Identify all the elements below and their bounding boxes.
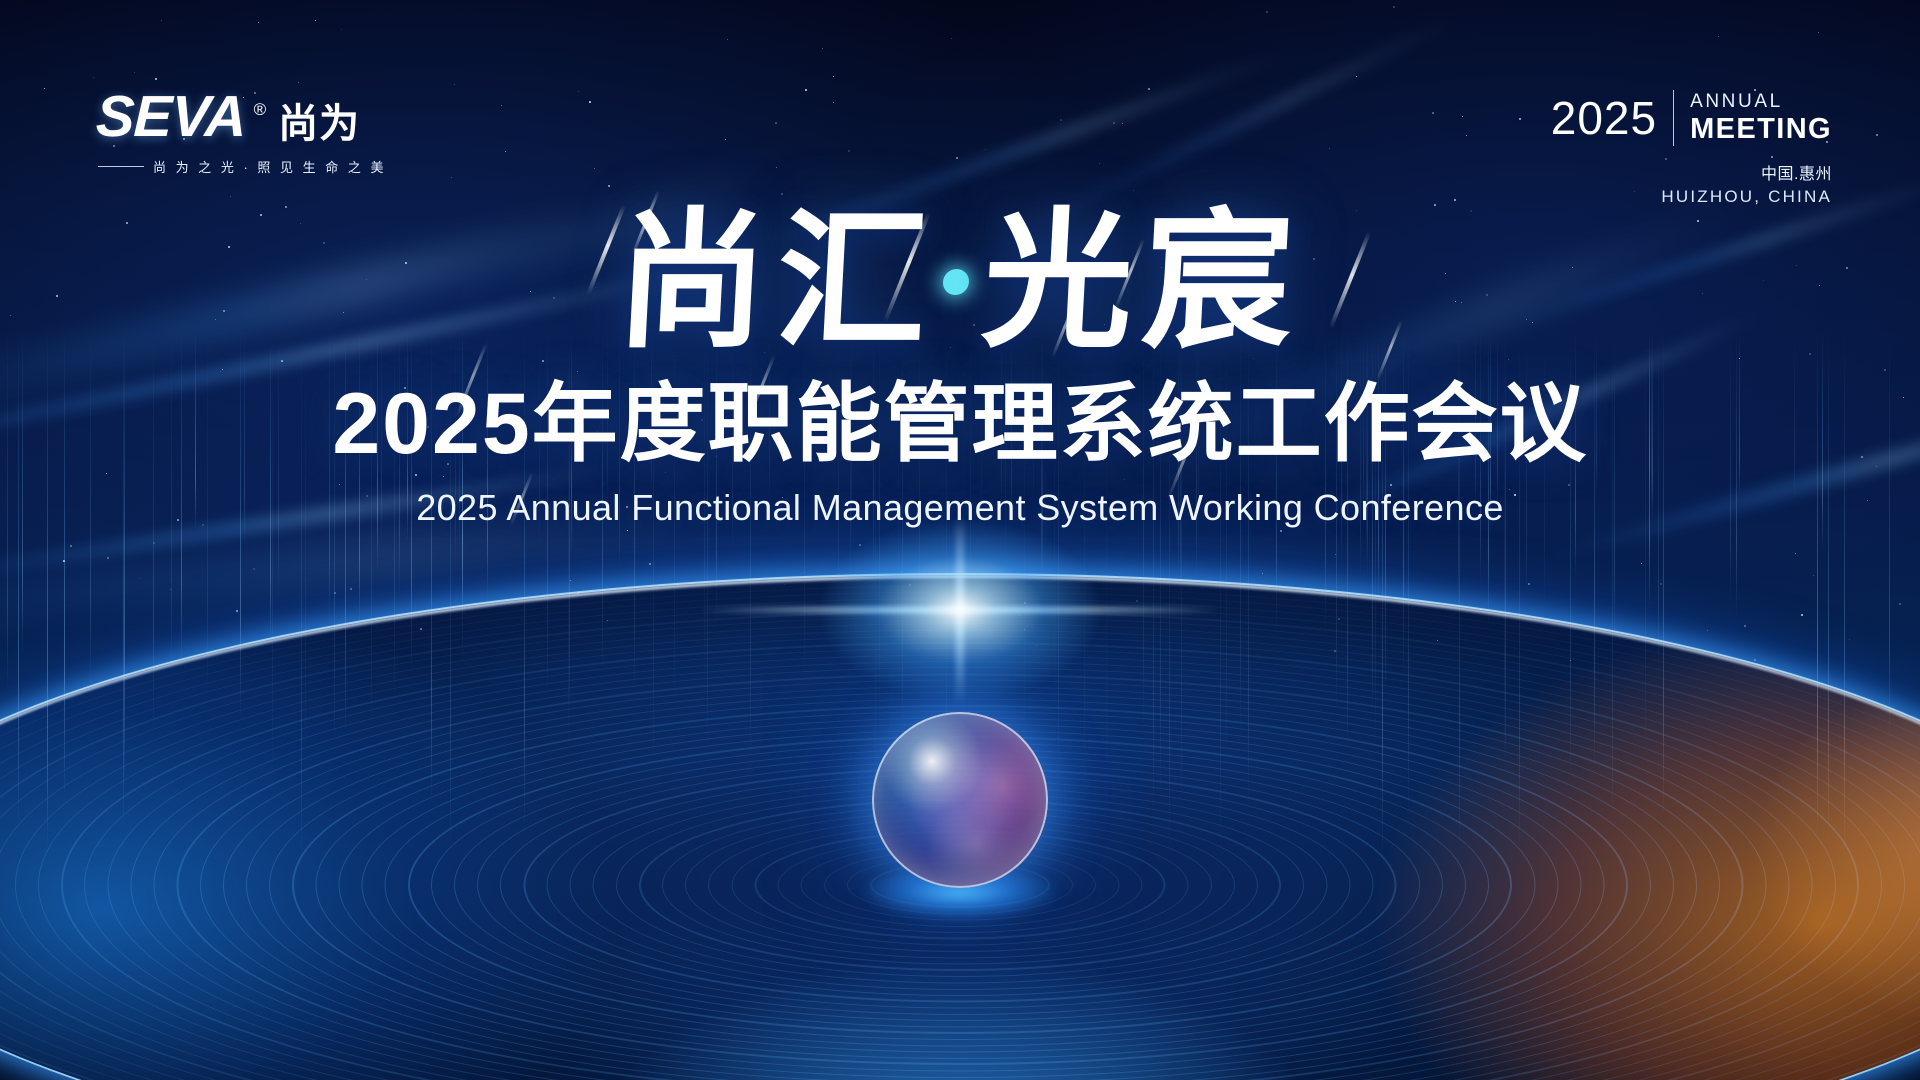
meeting-year: 2025 [1551,95,1657,141]
meeting-annual-label: ANNUAL [1690,91,1783,112]
meeting-location-en: HUIZHOU, CHINA [1551,187,1832,207]
disc-warm-wash [0,575,1920,1080]
light-burst-horizontal [700,607,1220,614]
disc-rim-arc [0,575,1920,1080]
center-orb-zone [700,600,1220,980]
meeting-words: ANNUAL MEETING [1690,90,1832,146]
brand-name-cn: 尚为 [278,104,360,144]
tagline-text: 尚 为 之 光 · 照 见 生 命 之 美 [153,157,386,176]
theme-title: 尚汇光宸 [613,205,1307,358]
disc-cool-wash [0,575,1920,1080]
brand-logo-row: SEVA ® 尚为 [96,88,456,146]
meeting-badge-top: 2025 ANNUAL MEETING [1551,90,1832,146]
meeting-meeting-label: MEETING [1690,113,1832,145]
conference-title-en: 2025 Annual Functional Management System… [0,487,1920,529]
disc-rim-glow [0,575,1920,1080]
meeting-divider [1673,90,1674,146]
light-burst [820,520,1100,700]
conference-banner: SEVA ® 尚为 尚 为 之 光 · 照 见 生 命 之 美 2025 ANN… [0,0,1920,1080]
theme-separator-dot [942,269,969,295]
concentric-ripple-disc [0,575,1920,1080]
disc-shade [0,575,1920,1080]
orb-base-glow [860,864,1060,920]
theme-title-right: 光宸 [979,205,1307,358]
conference-title-cn: 2025年度职能管理系统工作会议 [0,378,1920,471]
brand-logo: SEVA ® 尚为 尚 为 之 光 · 照 见 生 命 之 美 [96,88,456,176]
disc-rim-arc-warm [0,575,1920,1080]
brand-tagline: 尚 为 之 光 · 照 见 生 命 之 美 [98,157,456,176]
registered-trademark-icon: ® [254,100,267,120]
tagline-rule-left [98,166,144,167]
orb-rim-highlight [872,712,1048,888]
light-burst-vertical [956,515,964,705]
meeting-location-cn: 中国.惠州 [1551,160,1832,184]
ripple-rings [0,575,1920,1080]
brand-wordmark: SEVA [95,88,247,146]
headline-block: 尚汇光宸 2025年度职能管理系统工作会议 2025 Annual Functi… [0,205,1920,529]
meeting-badge: 2025 ANNUAL MEETING 中国.惠州 HUIZHOU, CHINA [1551,90,1832,207]
iridescent-glass-sphere [872,712,1048,888]
theme-title-left: 尚汇 [613,205,941,358]
